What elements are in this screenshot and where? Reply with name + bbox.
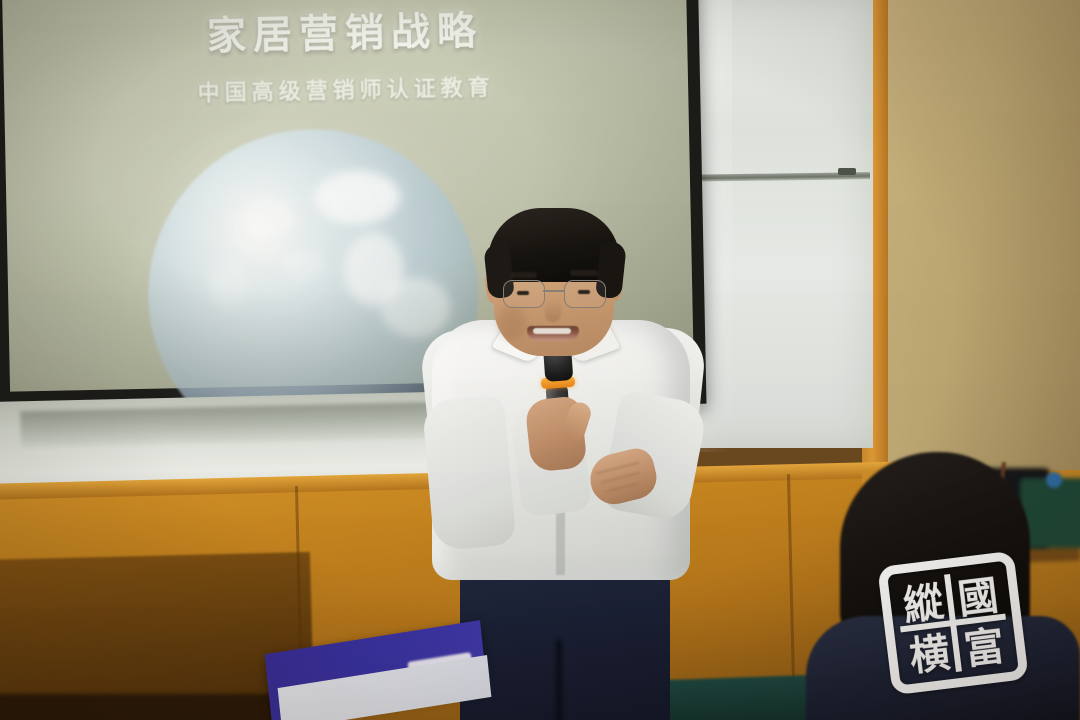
seal-char-heng: 横 [907,630,952,681]
nose [545,300,561,322]
speaker-arm-left [422,395,517,552]
eye-left [517,291,529,295]
watermark-seal: 縱 國 横 富 [877,550,1030,696]
eyebrow-right [570,270,598,276]
photo-scene: 家居营销战略 中国高级营销师认证教育 [0,0,1080,720]
eye-right [578,290,590,294]
glasses-bridge [543,290,564,292]
glasses-lens-right [564,280,606,308]
teeth [533,328,571,334]
cheek-shadow [498,306,526,340]
seal-char-guo: 國 [955,572,1000,623]
trouser-seam [556,640,562,720]
eyebrow-left [509,272,537,278]
seal-char-zong: 縱 [901,579,946,630]
seal-char-fu: 富 [962,623,1007,674]
